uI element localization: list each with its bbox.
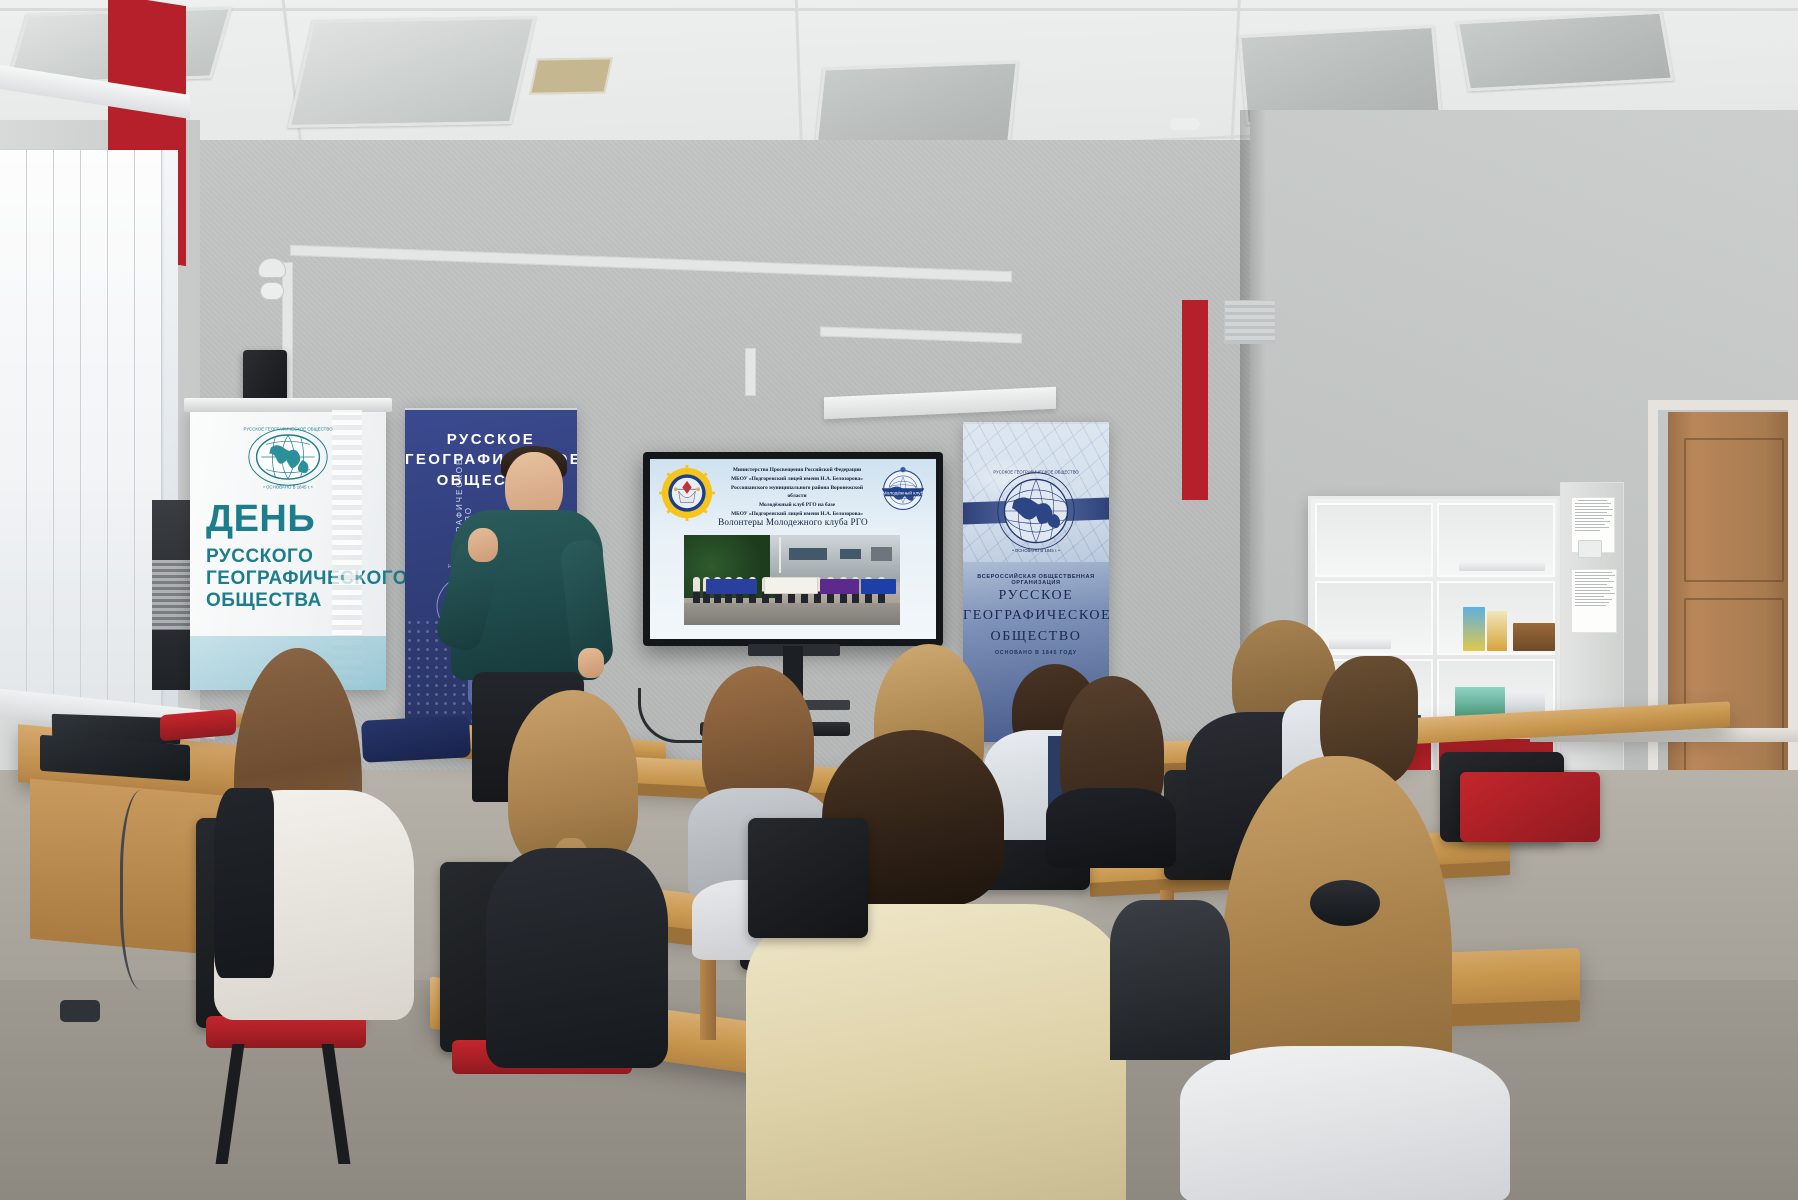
banner-top-rail <box>405 408 577 410</box>
chair-seat[interactable] <box>1460 772 1600 842</box>
red-wall-accent <box>1182 300 1208 500</box>
shelf-papers <box>1459 561 1545 571</box>
power-adapter <box>60 1000 100 1022</box>
wall-socket[interactable] <box>1578 540 1602 558</box>
banner-right-line1: РУССКОЕ <box>963 586 1109 606</box>
svg-text:РУССКОЕ ГЕОГРАФИЧЕСКОЕ ОБЩЕСТВ: РУССКОЕ ГЕОГРАФИЧЕСКОЕ ОБЩЕСТВО <box>243 426 333 431</box>
window-blind-slat[interactable] <box>27 150 54 710</box>
slide-header-line1: Министерство Просвещения Российской Феде… <box>722 466 872 475</box>
camera-dome <box>258 258 286 278</box>
photo-flag <box>764 577 818 594</box>
svg-text:• ОСНОВАНО В 1845 г. •: • ОСНОВАНО В 1845 г. • <box>1012 548 1060 553</box>
banner-right-title: РУССКОЕ ГЕОГРАФИЧЕСКОЕ ОБЩЕСТВО <box>963 586 1109 647</box>
slide-header-line3: Россошанского муниципального района Воро… <box>722 484 872 502</box>
shelf-cell <box>1315 503 1433 577</box>
student-body <box>1180 1046 1510 1200</box>
shelf-box[interactable] <box>1513 623 1555 651</box>
student-body <box>486 848 668 1068</box>
shelf-book[interactable] <box>1487 611 1507 651</box>
photo-window <box>840 549 861 559</box>
shelf-papers <box>1329 637 1391 649</box>
photo-flag <box>861 579 896 594</box>
photo-window <box>789 548 828 560</box>
student-jacket <box>214 788 274 978</box>
photo-ground <box>684 603 900 625</box>
banner-day-of-rgs: РУССКОЕ ГЕОГРАФИЧЕСКОЕ ОБЩЕСТВО • ОСНОВА… <box>190 410 386 690</box>
photo-flag <box>706 579 758 594</box>
banner-right-line2: ГЕОГРАФИЧЕСКОЕ <box>963 606 1109 626</box>
slide-surface: Министерство Просвещения Российской Феде… <box>650 459 936 639</box>
window-blind-slat[interactable] <box>81 150 108 710</box>
slide-title: Волонтеры Молодежного клуба РГО <box>650 517 936 527</box>
security-camera-icon <box>258 258 294 278</box>
presenter-hand <box>468 528 498 562</box>
window-blind-slat[interactable] <box>54 150 81 710</box>
slide-photo <box>684 535 900 625</box>
slide-header: Министерство Просвещения Российской Феде… <box>722 466 872 519</box>
shelf-cell <box>1315 581 1433 655</box>
ceiling-light-panel <box>288 16 537 128</box>
window-blind-slat[interactable] <box>0 150 27 710</box>
student-body <box>1046 788 1176 868</box>
camera-dome <box>260 282 284 300</box>
ceiling-patch <box>529 57 613 94</box>
photo-flagpole <box>779 537 781 573</box>
shelf-cell <box>1437 503 1555 577</box>
photo-window <box>871 547 892 561</box>
ventilation-grille-icon <box>1224 300 1276 344</box>
globe-emblem-icon: РУССКОЕ ГЕОГРАФИЧЕСКОЕ ОБЩЕСТВО • ОСНОВА… <box>241 424 335 490</box>
ceiling-light-panel <box>1456 11 1674 92</box>
power-cable <box>120 790 173 990</box>
smoke-detector-icon <box>1170 118 1200 130</box>
student-body <box>746 904 1126 1200</box>
presenter-hand <box>578 648 604 678</box>
photo-building <box>770 535 900 582</box>
window-blind-slat[interactable] <box>108 150 135 710</box>
slide-header-line4: Молодёжный клуб РГО на базе <box>722 501 872 510</box>
slide-header-line2: МБОУ «Подгоренский лицей имени Н.А. Бело… <box>722 475 872 484</box>
svg-text:РУССКОЕ ГЕОГРАФИЧЕСКОЕ ОБЩЕСТВ: РУССКОЕ ГЕОГРАФИЧЕСКОЕ ОБЩЕСТВО <box>993 470 1079 475</box>
shelf-book[interactable] <box>1463 607 1485 651</box>
hair-tie <box>1310 880 1380 926</box>
bookshelf-side-panel <box>1560 482 1624 804</box>
globe-emblem-icon: РУССКОЕ ГЕОГРАФИЧЕСКОЕ ОБЩЕСТВО • ОСНОВА… <box>993 468 1079 554</box>
classroom-scene: РУССКОЕ ГЕОГРАФИЧЕСКОЕ ОБЩЕСТВО • ОСНОВА… <box>0 0 1798 1200</box>
photo-person <box>693 577 700 603</box>
chair-back[interactable] <box>748 818 868 938</box>
banner-blue-line1: РУССКОЕ <box>405 430 577 450</box>
emblem-ring-top-text: РУССКОЕ ГЕОГРАФИЧЕСКОЕ ОБЩЕСТВО <box>243 426 333 431</box>
notice-information[interactable] <box>1571 569 1617 633</box>
cable-conduit <box>745 348 756 396</box>
ministry-emblem-icon <box>659 465 715 521</box>
shelf-cell <box>1437 581 1555 655</box>
photo-flag <box>820 579 859 594</box>
presentation-screen[interactable]: Министерство Просвещения Российской Феде… <box>643 452 943 646</box>
banner-right-subtitle: ВСЕРОССИЙСКАЯ ОБЩЕСТВЕННАЯ ОРГАНИЗАЦИЯ <box>963 574 1109 586</box>
emblem-ring-bottom-text: • ОСНОВАНО В 1845 г. • <box>263 484 313 489</box>
student-body <box>1110 900 1230 1060</box>
svg-text:• ОСНОВАНО В 1845 г. •: • ОСНОВАНО В 1845 г. • <box>263 484 313 489</box>
bag-on-desk[interactable] <box>361 715 471 763</box>
chair-seat[interactable] <box>206 1016 366 1048</box>
banner-right-line3: ОБЩЕСТВО <box>963 627 1109 647</box>
banner-right-founded: ОСНОВАНО В 1845 ГОДУ <box>963 650 1109 656</box>
youth-club-badge-icon: Молодёжный клуб <box>876 467 930 513</box>
ceiling-grid-line <box>0 8 1798 11</box>
